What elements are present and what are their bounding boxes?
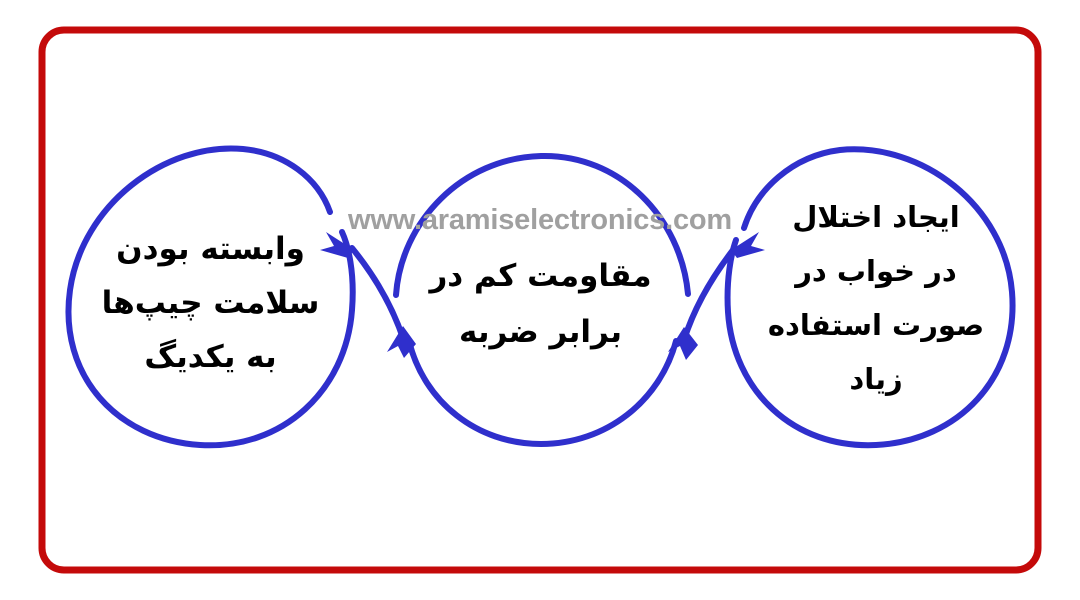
middle-circle-top-arc (396, 156, 688, 295)
diagram-canvas: www.aramiselectronics.com وابسته بودن سل… (0, 0, 1080, 600)
red-border-frame (42, 30, 1038, 570)
middle-circle-bottom-arc (409, 341, 676, 444)
left-circle-arc (68, 148, 352, 445)
right-circle-arc (728, 149, 1013, 445)
diagram-graphic (0, 0, 1080, 600)
loop-paths (68, 148, 1012, 445)
